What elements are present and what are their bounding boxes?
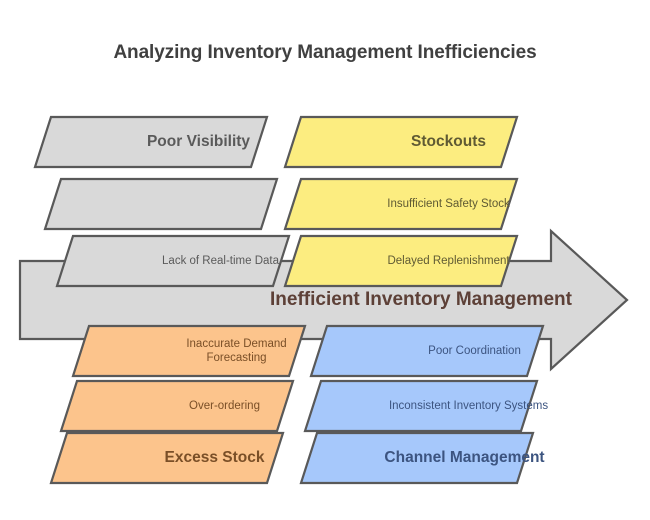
cause-label-top-right-1: Stockouts bbox=[411, 133, 486, 150]
cause-box-bottom-left-1[interactable] bbox=[73, 326, 305, 376]
cause-label-line: Lack of Real-time Data bbox=[162, 255, 280, 267]
cause-label-line: Poor Coordination bbox=[428, 345, 521, 357]
cause-label-top-left-1: Poor Visibility bbox=[147, 133, 250, 150]
cause-label-top-left-3: Lack of Real-time Data bbox=[162, 255, 280, 267]
cause-label-line: Over-ordering bbox=[189, 400, 260, 412]
cause-label-line: Channel Management bbox=[384, 449, 544, 466]
cause-label-line: Inconsistent Inventory Systems bbox=[389, 400, 548, 412]
diagram-canvas: Analyzing Inventory Management Inefficie… bbox=[0, 0, 650, 520]
cause-label-line: Insufficient Safety Stock bbox=[387, 198, 510, 210]
cause-label-bottom-right-1: Poor Coordination bbox=[428, 345, 521, 357]
cause-label-bottom-left-3: Excess Stock bbox=[165, 449, 265, 466]
cause-label-line: Poor Visibility bbox=[147, 133, 250, 150]
spine-label: Inefficient Inventory Management bbox=[270, 289, 573, 310]
fishbone-diagram: Poor VisibilityLack of Real-time DataSto… bbox=[0, 0, 650, 520]
cause-label-line: Inaccurate Demand bbox=[186, 338, 286, 350]
cause-label-bottom-right-3: Channel Management bbox=[384, 449, 544, 466]
cause-box-top-left-2[interactable] bbox=[45, 179, 277, 229]
cause-label-line: Excess Stock bbox=[165, 449, 265, 466]
cause-label-line: Delayed Replenishment bbox=[387, 255, 510, 267]
cause-label-bottom-left-2: Over-ordering bbox=[189, 400, 260, 412]
cause-label-line: Stockouts bbox=[411, 133, 486, 150]
cause-label-top-right-2: Insufficient Safety Stock bbox=[387, 198, 510, 210]
cause-label-bottom-right-2: Inconsistent Inventory Systems bbox=[389, 400, 548, 412]
cause-label-top-right-3: Delayed Replenishment bbox=[387, 255, 510, 267]
cause-label-line: Forecasting bbox=[206, 352, 266, 364]
